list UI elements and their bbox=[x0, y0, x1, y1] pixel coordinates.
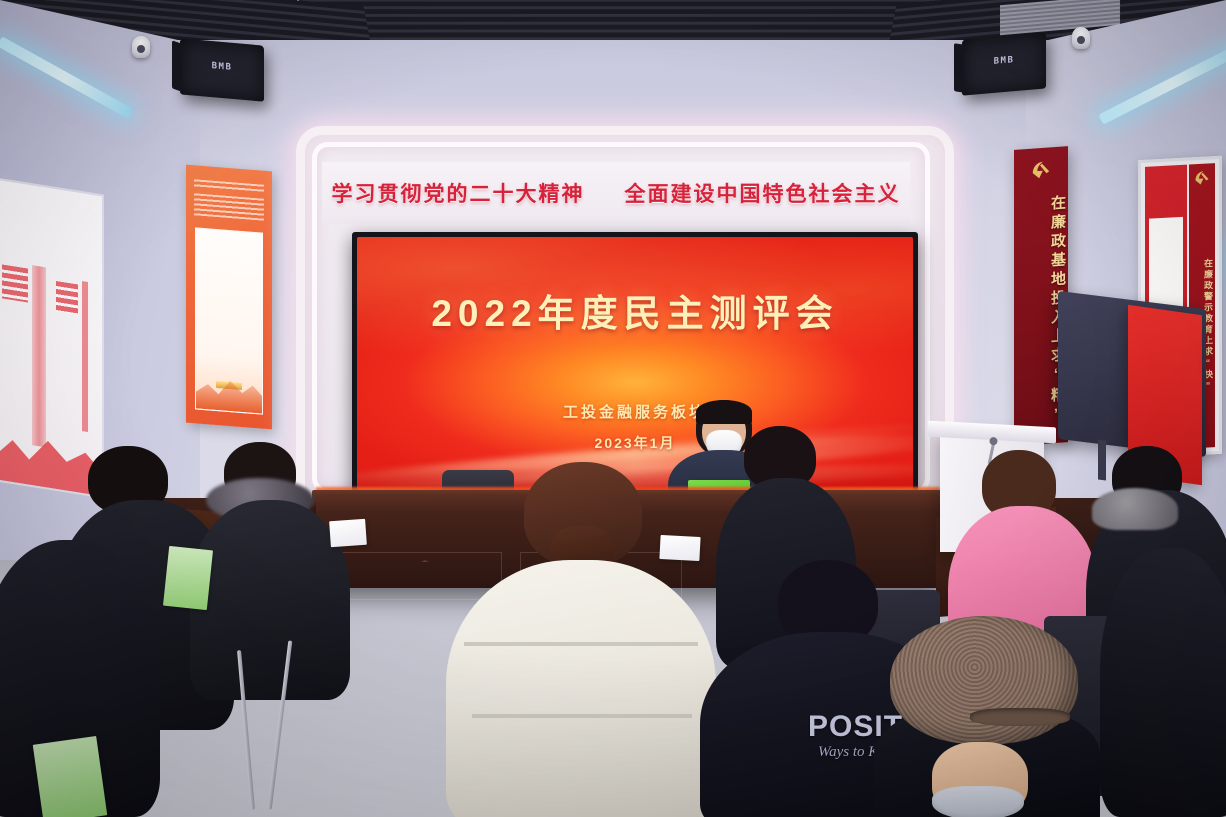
attendee-fur-hood-left bbox=[190, 438, 350, 668]
attendee-edge-left bbox=[0, 540, 160, 817]
speaker-brand-label: BMB bbox=[180, 58, 264, 75]
stage-banner: 学习贯彻党的二十大精神 全面建设中国特色社会主义 bbox=[322, 162, 910, 224]
puffer-seam bbox=[464, 642, 698, 646]
green-ballot-paper bbox=[33, 736, 108, 817]
attendee-white-puffer bbox=[446, 462, 716, 817]
attendee-mask bbox=[932, 786, 1024, 817]
panel-text-block-2 bbox=[56, 281, 78, 314]
conference-room-photo: BMB BMB 学习贯彻党的二十大精神 全面建设中国特色社会主义 2022年度民… bbox=[0, 0, 1226, 817]
party-hammer-sickle-emblem-icon bbox=[1030, 159, 1052, 181]
attendee-knit-cap bbox=[874, 616, 1100, 817]
screen-title: 2022年度民主测评会 bbox=[357, 283, 913, 337]
speaker-brand-label: BMB bbox=[962, 52, 1046, 69]
poster-image-card bbox=[195, 227, 263, 414]
wall-speaker-left: BMB bbox=[180, 38, 264, 101]
wall-speaker-right: BMB bbox=[962, 32, 1046, 95]
dome-security-camera-right-icon bbox=[1072, 27, 1090, 49]
poster-body-text bbox=[194, 193, 264, 221]
dome-security-camera-left-icon bbox=[132, 36, 150, 58]
orange-wall-poster bbox=[186, 165, 272, 430]
desk-paper bbox=[659, 535, 700, 561]
attendee-edge-right bbox=[1100, 548, 1226, 817]
panel-column-graphic bbox=[32, 265, 46, 447]
panel-bar-graphic bbox=[82, 281, 88, 432]
poster-gate-graphic bbox=[216, 381, 242, 390]
presenter-hair bbox=[696, 400, 752, 424]
poster-headline-text bbox=[194, 179, 264, 194]
banner-slogan-right: 全面建设中国特色社会主义 bbox=[625, 178, 901, 208]
puffer-seam bbox=[472, 714, 692, 718]
panel-text-block-1 bbox=[2, 264, 28, 302]
attendee-coat bbox=[1100, 548, 1226, 817]
attendee-fur-collar bbox=[1092, 488, 1178, 530]
banner-slogan-left: 学习贯彻党的二十大精神 bbox=[332, 178, 585, 208]
knit-cap-brim bbox=[970, 708, 1070, 726]
jacket-tagline-text: Ways to K bbox=[818, 744, 878, 761]
green-ballot-paper bbox=[163, 546, 213, 610]
desk-paper bbox=[329, 519, 367, 547]
screen-subtitle-org: 工投金融服务板块 bbox=[357, 401, 913, 422]
attendee-white-puffer-coat bbox=[446, 560, 716, 817]
attendee-coat bbox=[190, 500, 350, 700]
